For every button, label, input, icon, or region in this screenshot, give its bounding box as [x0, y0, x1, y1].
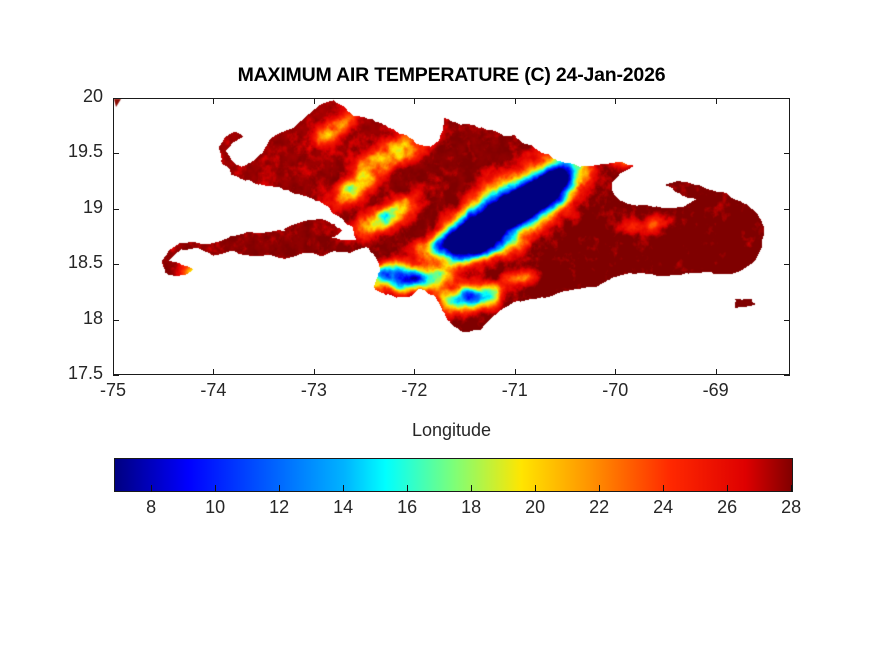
colorbar-tick-label: 8	[116, 497, 186, 518]
colorbar-tick-label: 14	[308, 497, 378, 518]
colorbar-tick	[215, 485, 216, 492]
x-tick	[515, 369, 516, 375]
x-tick-top	[213, 98, 214, 104]
colorbar-tick-label: 22	[564, 497, 634, 518]
y-tick-label: 19.5	[0, 141, 103, 162]
x-axis-label: Longitude	[113, 420, 790, 441]
x-tick	[314, 369, 315, 375]
x-tick	[716, 369, 717, 375]
colorbar-tick	[663, 485, 664, 492]
x-tick-top	[716, 98, 717, 104]
colorbar-tick	[791, 485, 792, 492]
y-tick-label: 20	[0, 86, 103, 107]
y-tick	[113, 153, 119, 154]
x-tick	[414, 369, 415, 375]
map-axes[interactable]	[113, 98, 790, 375]
chart-title: MAXIMUM AIR TEMPERATURE (C) 24-Jan-2026	[113, 64, 790, 87]
y-tick-right	[784, 153, 790, 154]
figure-canvas: MAXIMUM AIR TEMPERATURE (C) 24-Jan-2026 …	[0, 0, 875, 656]
x-tick	[213, 369, 214, 375]
colorbar-tick-label: 26	[692, 497, 762, 518]
colorbar-tick	[407, 485, 408, 492]
colorbar-tick	[343, 485, 344, 492]
y-tick	[113, 264, 119, 265]
x-tick-top	[414, 98, 415, 104]
x-tick-top	[515, 98, 516, 104]
colorbar-tick-label: 16	[372, 497, 442, 518]
colorbar-tick	[471, 485, 472, 492]
x-tick-label: -74	[173, 380, 253, 401]
colorbar-tick-label: 10	[180, 497, 250, 518]
colorbar-tick	[727, 485, 728, 492]
colorbar[interactable]	[114, 458, 793, 492]
y-tick-label: 17.5	[0, 363, 103, 384]
x-tick	[615, 369, 616, 375]
colorbar-tick-label: 28	[756, 497, 826, 518]
colorbar-tick	[279, 485, 280, 492]
y-tick-right	[784, 375, 790, 376]
y-tick	[113, 375, 119, 376]
colorbar-tick	[599, 485, 600, 492]
x-tick-label: -72	[374, 380, 454, 401]
x-tick-label: -69	[676, 380, 756, 401]
y-tick-label: 18.5	[0, 252, 103, 273]
y-tick	[113, 98, 119, 99]
colorbar-tick	[151, 485, 152, 492]
x-tick-top	[314, 98, 315, 104]
y-tick-right	[784, 320, 790, 321]
y-tick-label: 18	[0, 308, 103, 329]
y-tick	[113, 209, 119, 210]
x-tick-label: -70	[575, 380, 655, 401]
y-tick-label: 19	[0, 197, 103, 218]
colorbar-tick	[535, 485, 536, 492]
colorbar-tick-label: 20	[500, 497, 570, 518]
x-tick-top	[615, 98, 616, 104]
y-tick-right	[784, 98, 790, 99]
x-tick-label: -71	[475, 380, 555, 401]
colorbar-tick-label: 12	[244, 497, 314, 518]
y-tick	[113, 320, 119, 321]
y-tick-right	[784, 264, 790, 265]
temperature-heatmap	[113, 98, 790, 375]
x-tick-label: -73	[274, 380, 354, 401]
y-tick-right	[784, 209, 790, 210]
colorbar-tick-label: 18	[436, 497, 506, 518]
colorbar-tick-label: 24	[628, 497, 698, 518]
